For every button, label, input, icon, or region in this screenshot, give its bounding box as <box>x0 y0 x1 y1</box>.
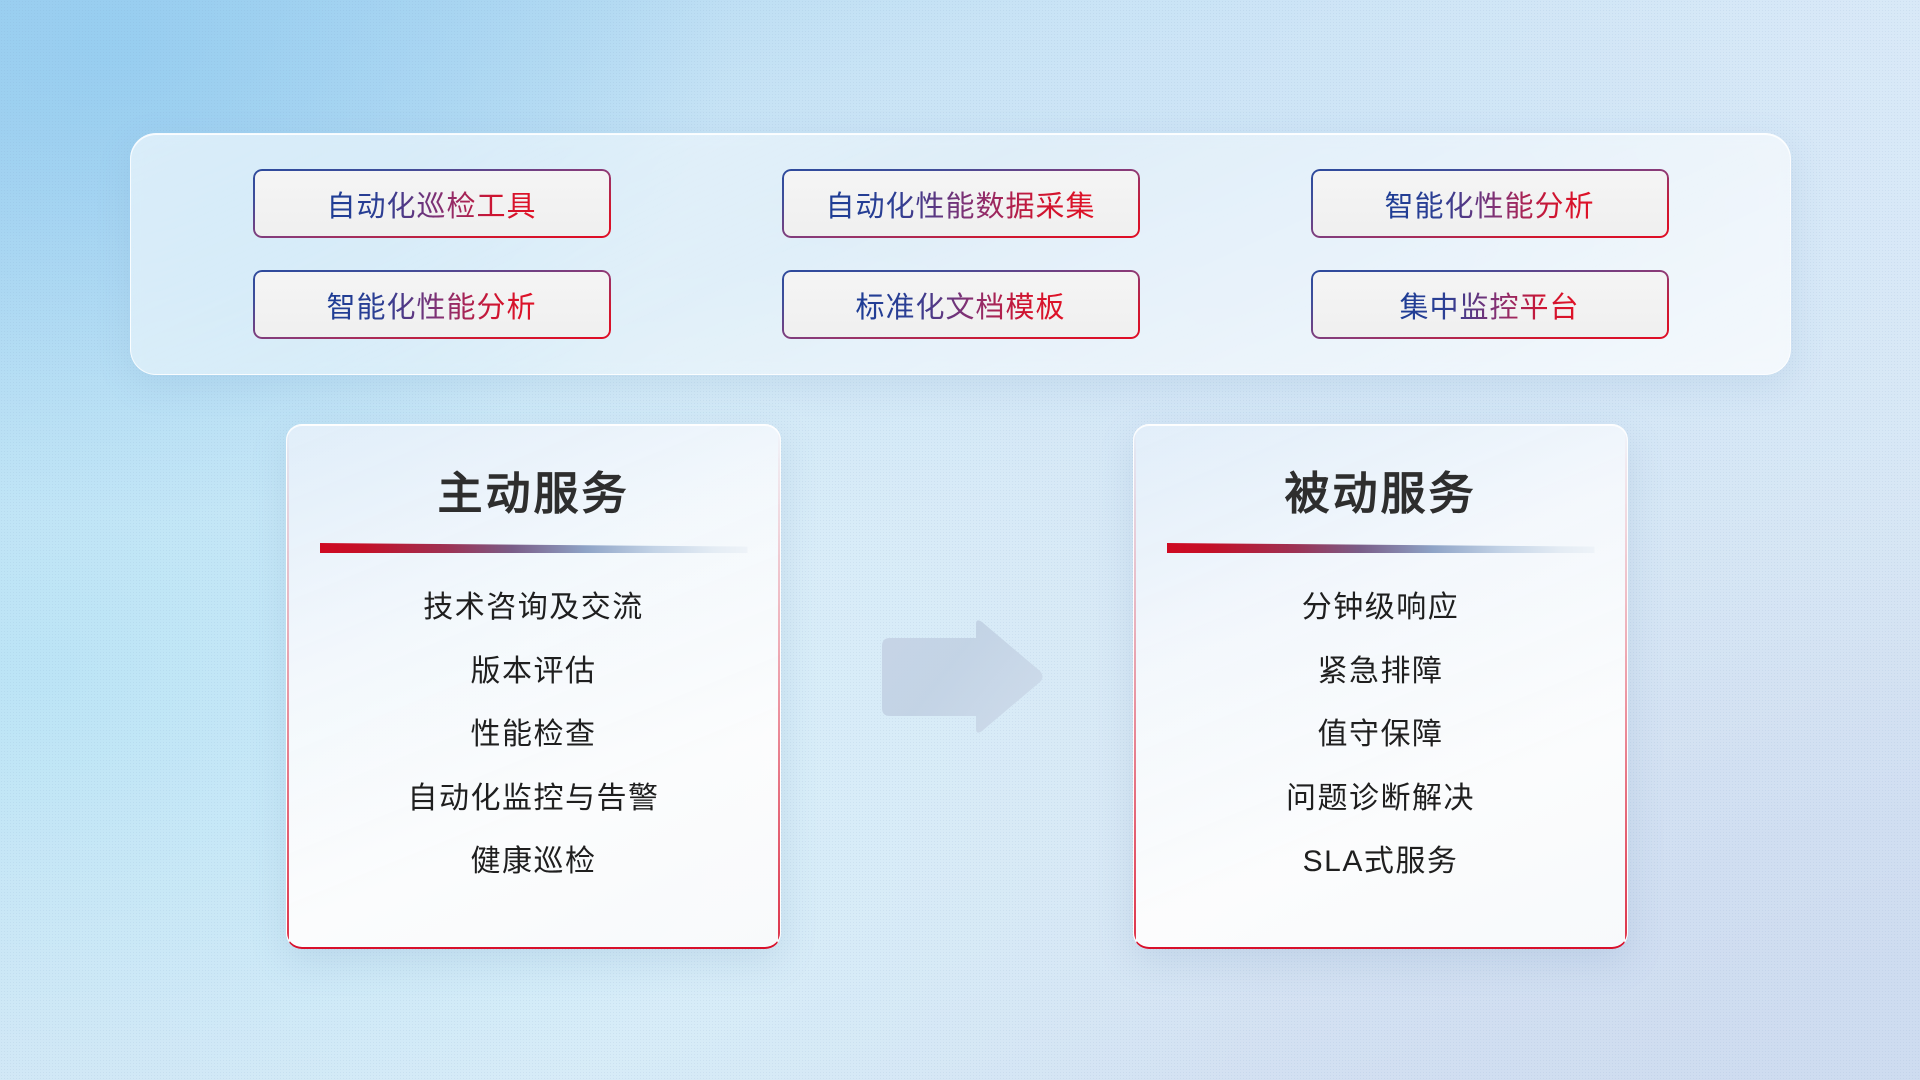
capability-pill-3[interactable]: 智能化性能分析 <box>1311 169 1669 238</box>
reactive-service-title: 被动服务 <box>1134 457 1627 522</box>
divider-gradient-bar <box>320 543 748 553</box>
proactive-service-card: 主动服务 技术咨询及交流 版本评估 性能检查 自动化监控与告警 健康巡检 <box>286 424 781 949</box>
capability-pill-2[interactable]: 自动化性能数据采集 <box>782 169 1140 238</box>
capability-pill-label: 自动化巡检工具 <box>326 183 536 225</box>
proactive-service-title: 主动服务 <box>287 457 780 522</box>
capability-pill-6[interactable]: 集中监控平台 <box>1311 270 1669 339</box>
proactive-service-list: 技术咨询及交流 版本评估 性能检查 自动化监控与告警 健康巡检 <box>287 588 780 883</box>
divider-gradient-bar <box>1167 543 1595 553</box>
list-item: SLA式服务 <box>1303 842 1459 883</box>
reactive-service-card: 被动服务 分钟级响应 紧急排障 值守保障 问题诊断解决 SLA式服务 <box>1133 424 1628 949</box>
list-item: 版本评估 <box>471 652 597 693</box>
list-item: 自动化监控与告警 <box>408 779 660 820</box>
capability-pill-4[interactable]: 智能化性能分析 <box>253 270 611 339</box>
capability-pill-label: 自动化性能数据采集 <box>825 183 1095 225</box>
reactive-service-list: 分钟级响应 紧急排障 值守保障 问题诊断解决 SLA式服务 <box>1134 588 1627 883</box>
list-item: 值守保障 <box>1318 715 1444 756</box>
capability-tags-panel: 自动化巡检工具 自动化性能数据采集 智能化性能分析 智能化性能分析 标准化文档模… <box>130 133 1791 375</box>
capability-pill-label: 智能化性能分析 <box>326 284 536 326</box>
list-item: 健康巡检 <box>471 842 597 883</box>
title-divider <box>320 543 748 553</box>
list-item: 紧急排障 <box>1318 652 1444 693</box>
capability-pill-label: 智能化性能分析 <box>1384 183 1594 225</box>
capability-pill-5[interactable]: 标准化文档模板 <box>782 270 1140 339</box>
capability-pill-grid: 自动化巡检工具 自动化性能数据采集 智能化性能分析 智能化性能分析 标准化文档模… <box>131 168 1790 341</box>
list-item: 分钟级响应 <box>1302 588 1460 629</box>
capability-pill-label: 标准化文档模板 <box>855 284 1065 326</box>
right-arrow-icon <box>872 618 1044 736</box>
title-divider <box>1167 543 1595 553</box>
list-item: 性能检查 <box>471 715 597 756</box>
list-item: 问题诊断解决 <box>1286 779 1475 820</box>
capability-pill-label: 集中监控平台 <box>1399 284 1579 326</box>
list-item: 技术咨询及交流 <box>423 588 644 629</box>
capability-pill-1[interactable]: 自动化巡检工具 <box>253 169 611 238</box>
